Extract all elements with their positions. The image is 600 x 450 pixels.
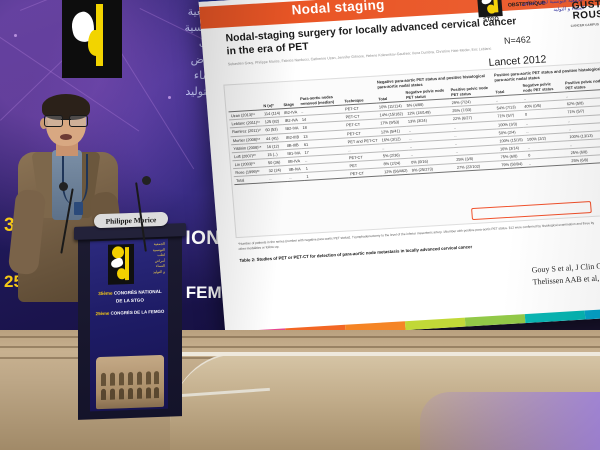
table-cell: 25% (6/8) — [569, 154, 600, 165]
speaker-nameplate: Philippe Morice — [94, 212, 168, 229]
table-cell: 79% (58/94) — [499, 159, 527, 169]
gustave-line-2: ROUSSY — [572, 8, 600, 20]
lectern-panel: الجمعية التونسية لطب أمراض النساء و التو… — [90, 239, 168, 412]
slide-citations: Gouy S et al, J Clin Oncol 2013 Thelisse… — [531, 259, 600, 289]
slide-table-panel: Negative para-aortic PET status and posi… — [223, 62, 600, 239]
badge — [74, 202, 83, 215]
table-cell: .. — [287, 172, 305, 181]
backdrop-stgo-logo — [62, 0, 122, 78]
lectern: الجمعية التونسية لطب أمراض النساء و التو… — [78, 225, 182, 425]
color-strip-segment — [465, 314, 526, 327]
desk-accent-light — [420, 392, 600, 450]
highlight-box — [471, 201, 592, 220]
table-cell: 1 — [304, 170, 348, 181]
glasses-icon — [44, 115, 88, 125]
pet-studies-table: Negative para-aortic PET status and posi… — [227, 65, 600, 185]
lanyard — [62, 154, 88, 204]
table-cell-study: Total — [234, 175, 268, 185]
slide-stgo-logo-icon — [476, 0, 503, 17]
color-strip-segment — [405, 318, 466, 331]
table-cell: 12% (56/462) — [382, 166, 410, 176]
lectern-congress-line2: DE LA STGO — [94, 297, 166, 305]
color-strip-segment — [585, 307, 600, 320]
speaker-name: Philippe Morice — [106, 215, 157, 226]
slide-gustave-sub: CANCER CAMPUS / GRAND PARIS — [571, 21, 600, 28]
slide-n-label: N=462 — [504, 34, 532, 46]
microphone-head-left — [59, 182, 68, 191]
lectern-congress-line3: 25ème CONGRÈS DE LA FEMGO — [94, 309, 166, 317]
amphitheatre-image — [96, 355, 164, 409]
projection-screen: Nodal staging Nodal-staging surgery for … — [198, 0, 600, 341]
table-cell: 9% (25/273) — [409, 164, 455, 175]
lectern-congress-line1: 35ème CONGRÈS NATIONAL — [94, 289, 166, 297]
lectern-stgo-logo-icon — [108, 244, 134, 285]
microphone-head-right — [142, 176, 151, 185]
color-strip-segment — [525, 311, 586, 324]
table-cell: 27% (22/102) — [455, 161, 500, 172]
slide-gustave-roussy-logo: GUSTAVE ROUSSY — [571, 0, 600, 21]
lectern-arabic-text: الجمعية التونسية لطب أمراض النساء و التو… — [135, 242, 165, 276]
panel-desk-edge — [172, 352, 600, 356]
table-cell: .. — [267, 173, 288, 182]
col-stage: Stage — [281, 95, 299, 108]
conference-photo-scene: الجمعية التونسية لطب أمراض النساء و التو… — [0, 0, 600, 450]
table-cell: PET-CT — [348, 168, 383, 178]
table-cell: .. — [527, 157, 570, 168]
